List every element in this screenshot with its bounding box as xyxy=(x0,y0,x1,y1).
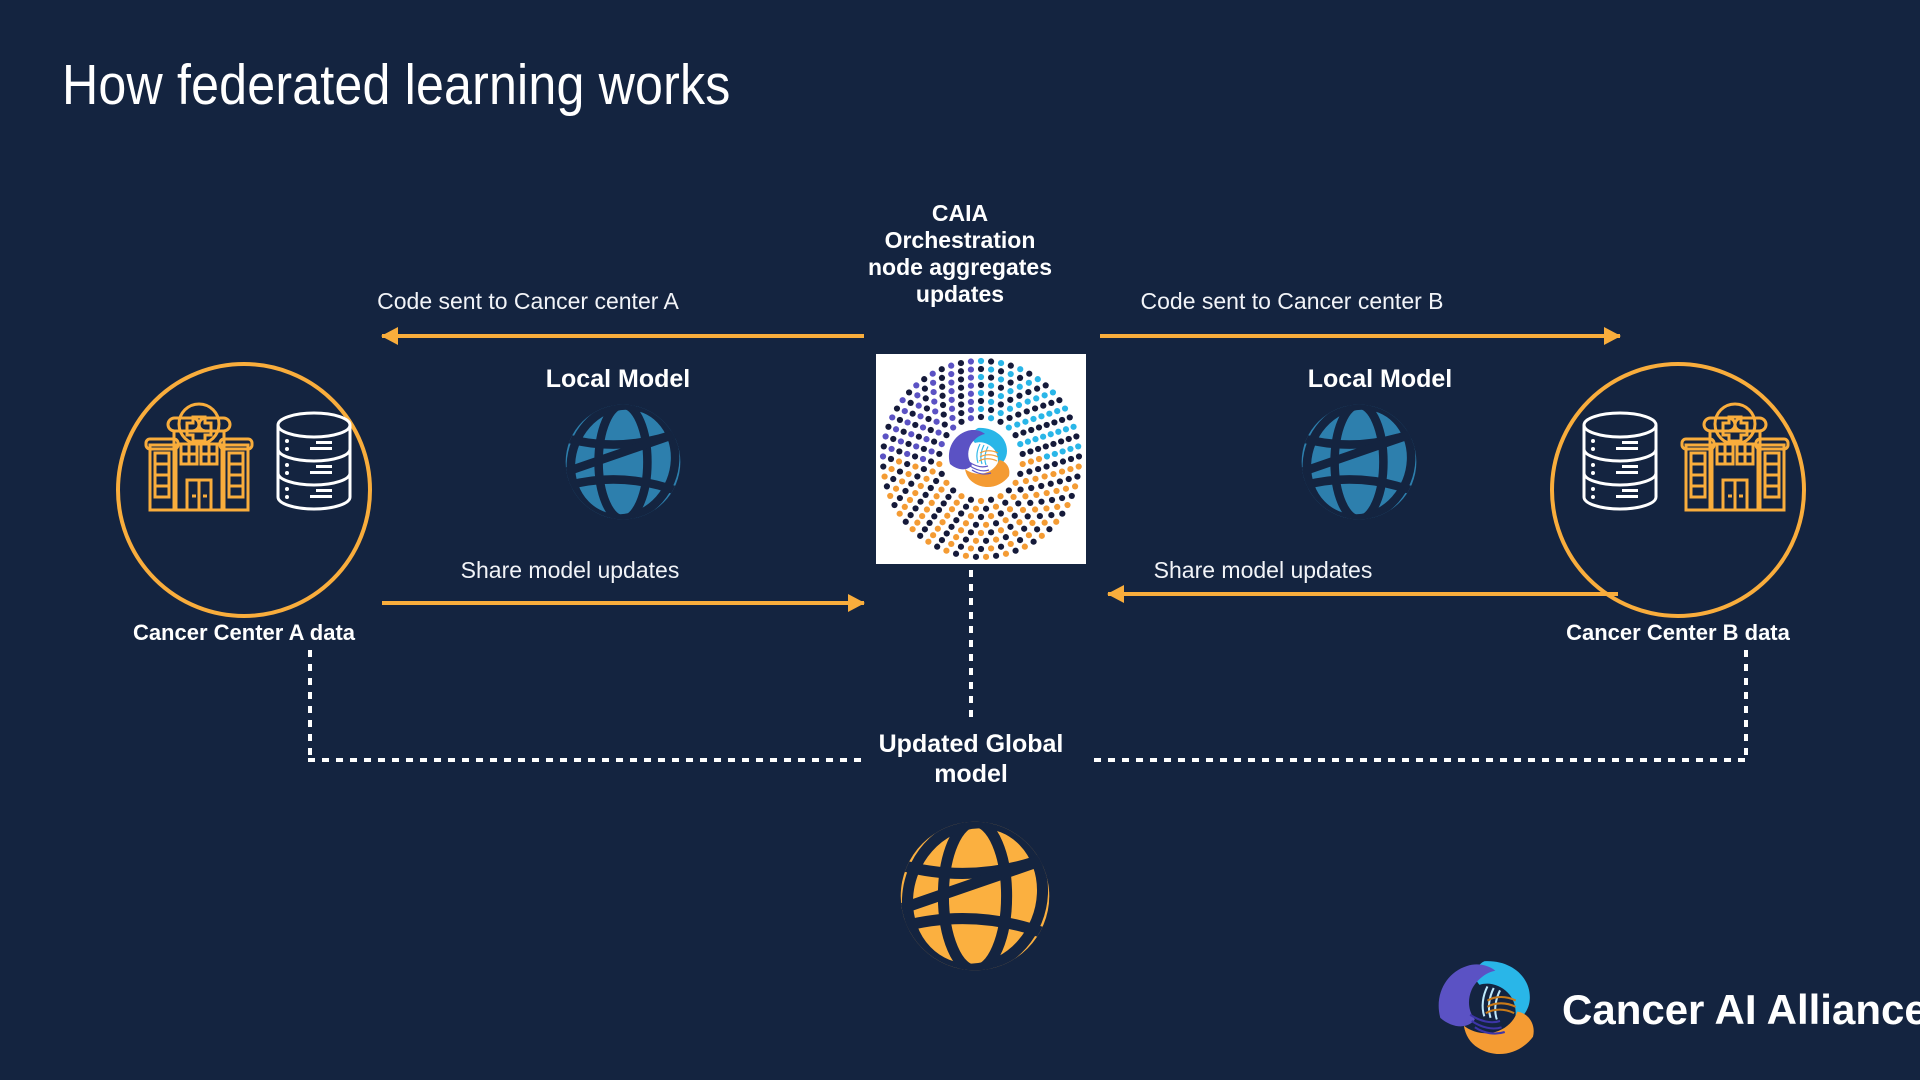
caia-hands-logo xyxy=(1434,955,1544,1065)
globe-icon xyxy=(562,401,684,523)
center-a-down-connector xyxy=(308,650,312,762)
code-sent-to-b-arrow xyxy=(1100,331,1620,341)
center-b-to-global-connector xyxy=(1094,758,1748,762)
orchestrator-to-global-connector xyxy=(969,570,973,720)
arrow-head xyxy=(848,594,865,612)
database-icon xyxy=(1578,408,1662,514)
database-icon xyxy=(272,408,356,514)
hospital-icon xyxy=(1676,400,1794,522)
hospital-icon xyxy=(140,400,258,522)
cancer-center-b-icons xyxy=(1578,400,1794,522)
share-updates-b-label: Share model updates xyxy=(1038,557,1488,584)
code-sent-to-a-label: Code sent to Cancer center A xyxy=(328,288,728,315)
cancer-center-a-label: Cancer Center A data xyxy=(44,620,444,646)
caia-dotted-rings-logo xyxy=(876,354,1086,564)
code-sent-to-a-arrow xyxy=(382,331,864,341)
arrow-shaft xyxy=(382,334,864,338)
arrow-head xyxy=(381,327,398,345)
caia-logo-card xyxy=(876,354,1086,564)
orchestration-node-label: CAIA Orchestration node aggregates updat… xyxy=(855,200,1065,309)
arrow-head xyxy=(1604,327,1621,345)
globe-icon xyxy=(1298,401,1420,523)
cancer-center-a-icons xyxy=(140,400,356,522)
arrow-head xyxy=(1107,585,1124,603)
local-model-b-label: Local Model xyxy=(1240,365,1520,395)
page-title: How federated learning works xyxy=(62,52,730,118)
arrow-shaft xyxy=(1100,334,1620,338)
code-sent-to-b-label: Code sent to Cancer center B xyxy=(1042,288,1542,315)
updated-global-model-label: Updated Global model xyxy=(856,730,1086,789)
share-updates-a-arrow xyxy=(382,598,864,608)
footer-brand-text: Cancer AI Alliance xyxy=(1562,986,1920,1034)
footer-brand: Cancer AI Alliance xyxy=(1434,955,1920,1065)
share-updates-a-label: Share model updates xyxy=(370,557,770,584)
arrow-shaft xyxy=(1108,592,1618,596)
arrow-shaft xyxy=(382,601,864,605)
center-a-to-global-connector xyxy=(308,758,868,762)
local-model-a-label: Local Model xyxy=(478,365,758,395)
slide-canvas: How federated learning works xyxy=(0,0,1920,1080)
share-updates-b-arrow xyxy=(1108,589,1618,599)
cancer-center-b-label: Cancer Center B data xyxy=(1478,620,1878,646)
globe-icon xyxy=(896,817,1054,975)
center-b-down-connector xyxy=(1744,650,1748,762)
